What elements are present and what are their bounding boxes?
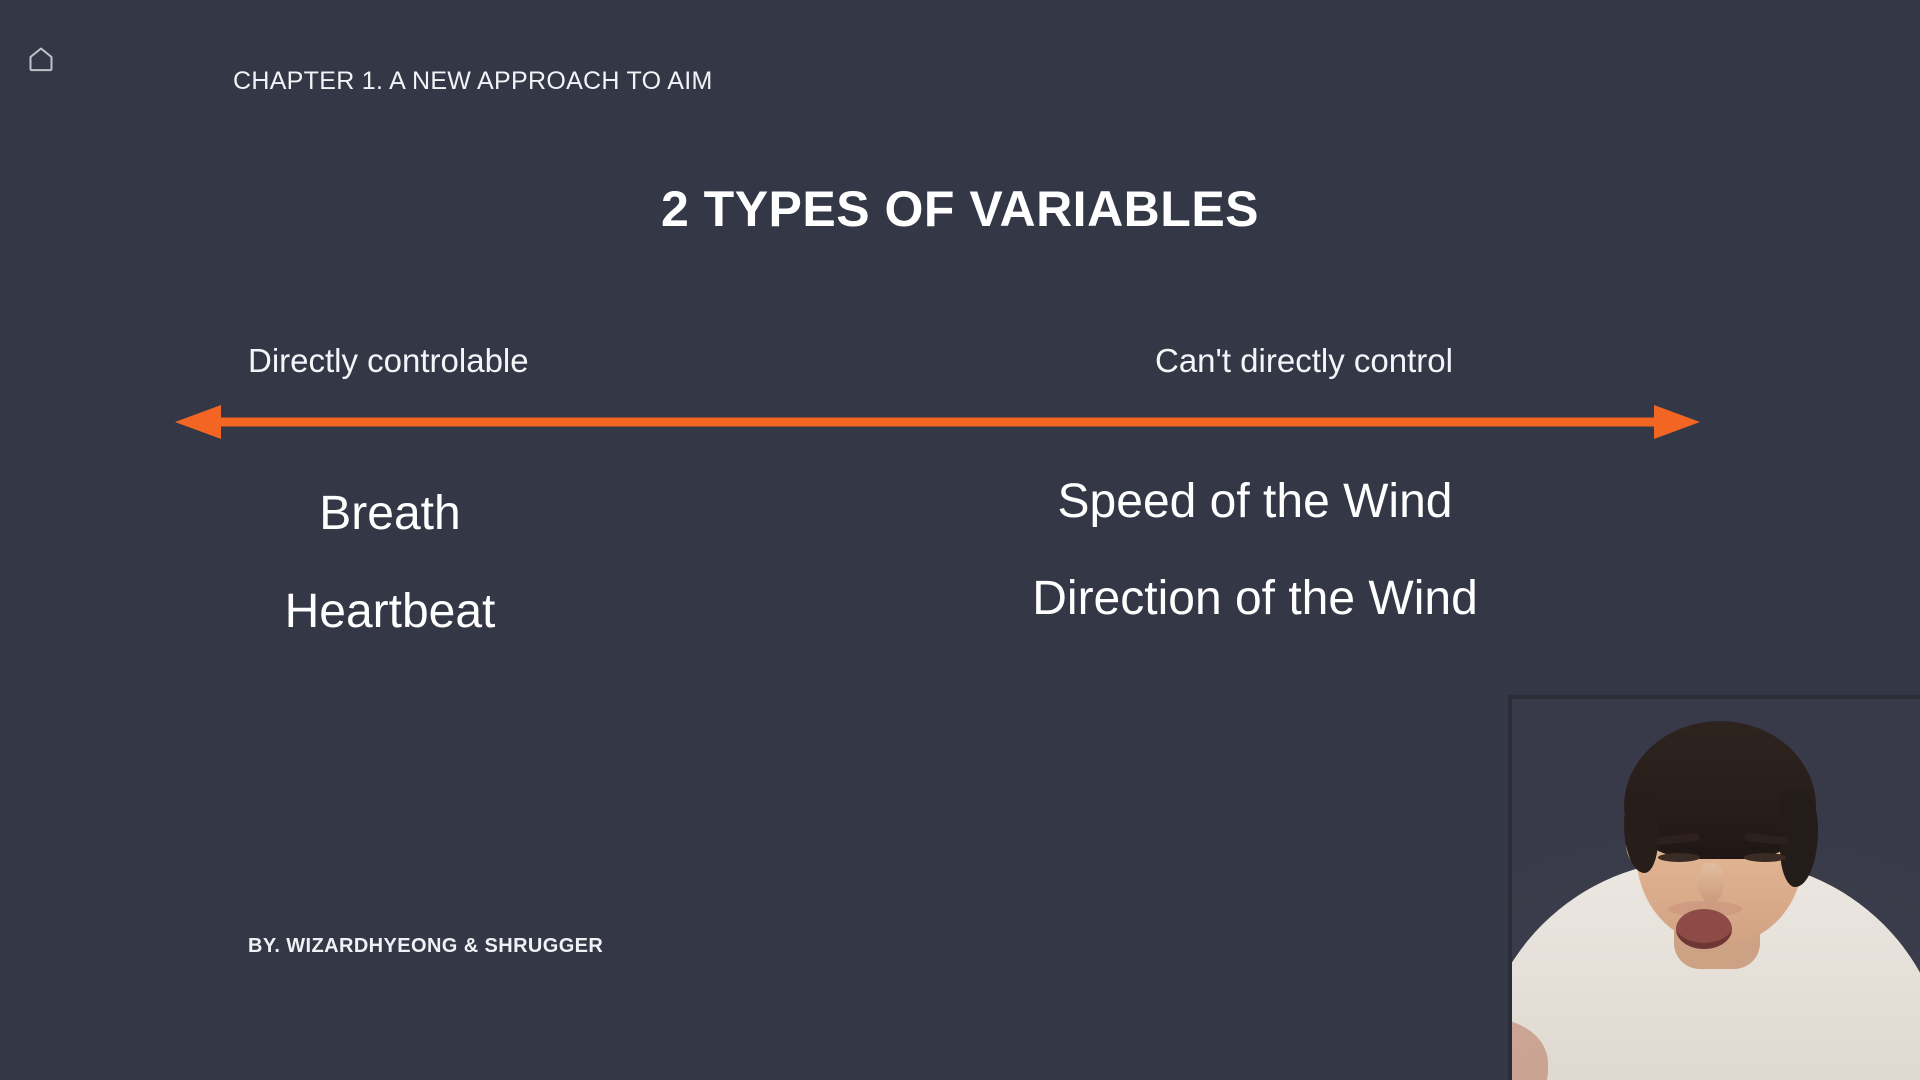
slide-title: 2 TYPES OF VARIABLES: [0, 180, 1920, 238]
double-headed-arrow-icon: [175, 398, 1700, 446]
uncontrollable-items-list: Speed of the Wind Direction of the Wind: [790, 478, 1720, 623]
webcam-edge-top: [1508, 695, 1920, 699]
home-icon[interactable]: [24, 42, 58, 76]
webcam-edge-left: [1508, 695, 1512, 1080]
controllable-items-list: Breath Heartbeat: [0, 490, 780, 636]
credit-line: BY. WIZARDHYEONG & SHRUGGER: [248, 935, 603, 958]
list-item: Direction of the Wind: [790, 575, 1720, 623]
presentation-slide: CHAPTER 1. A NEW APPROACH TO AIM 2 TYPES…: [0, 0, 1920, 1080]
double-headed-arrow-glyph: [175, 398, 1700, 446]
list-item: Breath: [0, 490, 780, 538]
list-item: Heartbeat: [0, 588, 780, 636]
home-icon-glyph: [26, 44, 56, 74]
axis-label-right: Can't directly control: [1155, 342, 1453, 380]
presenter-figure: [1508, 695, 1920, 1080]
chapter-heading: CHAPTER 1. A NEW APPROACH TO AIM: [233, 67, 713, 96]
presenter-webcam-overlay[interactable]: [1508, 695, 1920, 1080]
list-item: Speed of the Wind: [790, 478, 1720, 526]
axis-label-left: Directly controlable: [248, 342, 529, 380]
